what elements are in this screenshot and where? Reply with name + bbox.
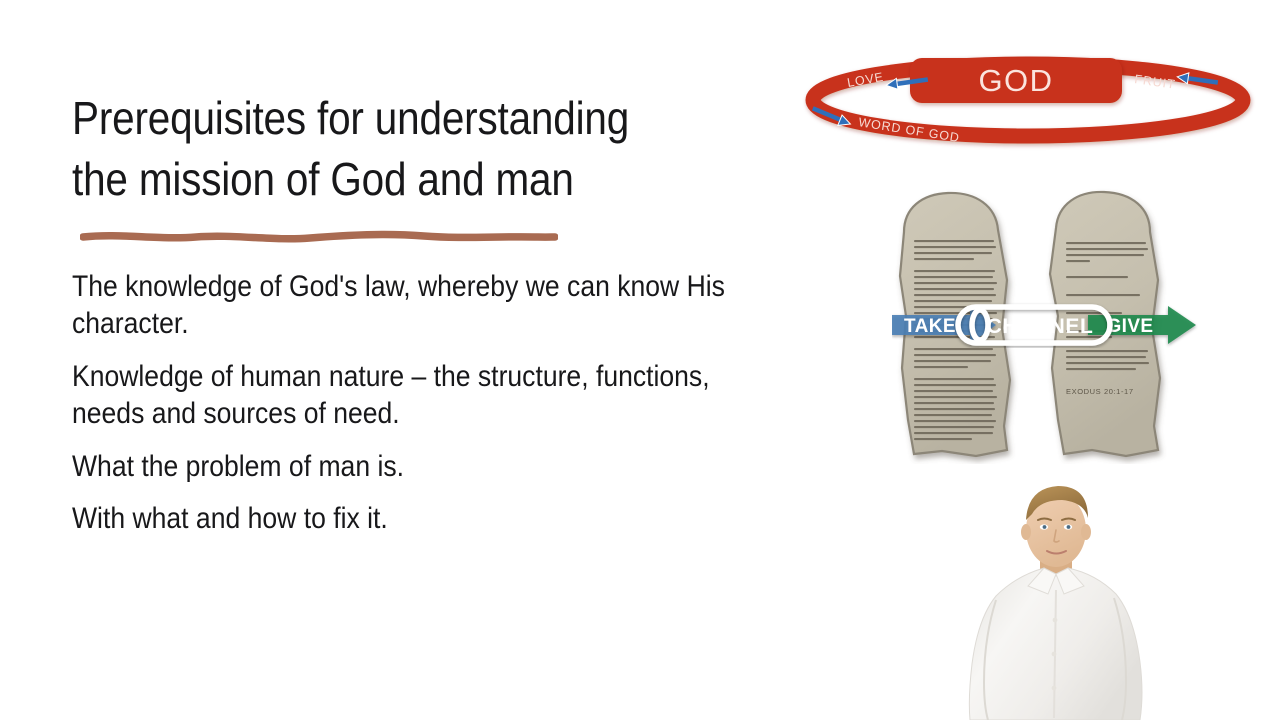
give-label: GIVE: [1106, 316, 1153, 337]
accent-rule: [80, 224, 558, 250]
shirt: [969, 568, 1142, 720]
body-paragraph-list: The knowledge of God's law, whereby we c…: [72, 268, 802, 538]
slide-canvas: Prerequisites for understanding the miss…: [0, 0, 1280, 720]
page-title: Prerequisites for understanding the miss…: [72, 88, 688, 209]
body-paragraph-1: The knowledge of God's law, whereby we c…: [72, 268, 729, 343]
word-of-god-label: WORD OF GOD: [858, 115, 961, 145]
channel-banner: TAKE GIVE CHANNEL: [892, 302, 1198, 348]
god-label: GOD: [978, 63, 1053, 98]
body-paragraph-2: Knowledge of human nature – the structur…: [72, 358, 729, 433]
take-label: TAKE: [904, 316, 956, 337]
head: [1021, 486, 1091, 567]
channel-label: CHANNEL: [987, 315, 1094, 338]
exodus-reference: EXODUS 20:1-17: [1066, 387, 1134, 396]
person-photo: [944, 468, 1196, 720]
body-paragraph-4: With what and how to fix it.: [72, 500, 729, 537]
god-ring-diagram: GOD LOVE FRUIT WORD OF GOD: [800, 44, 1270, 164]
body-paragraph-3: What the problem of man is.: [72, 448, 729, 485]
